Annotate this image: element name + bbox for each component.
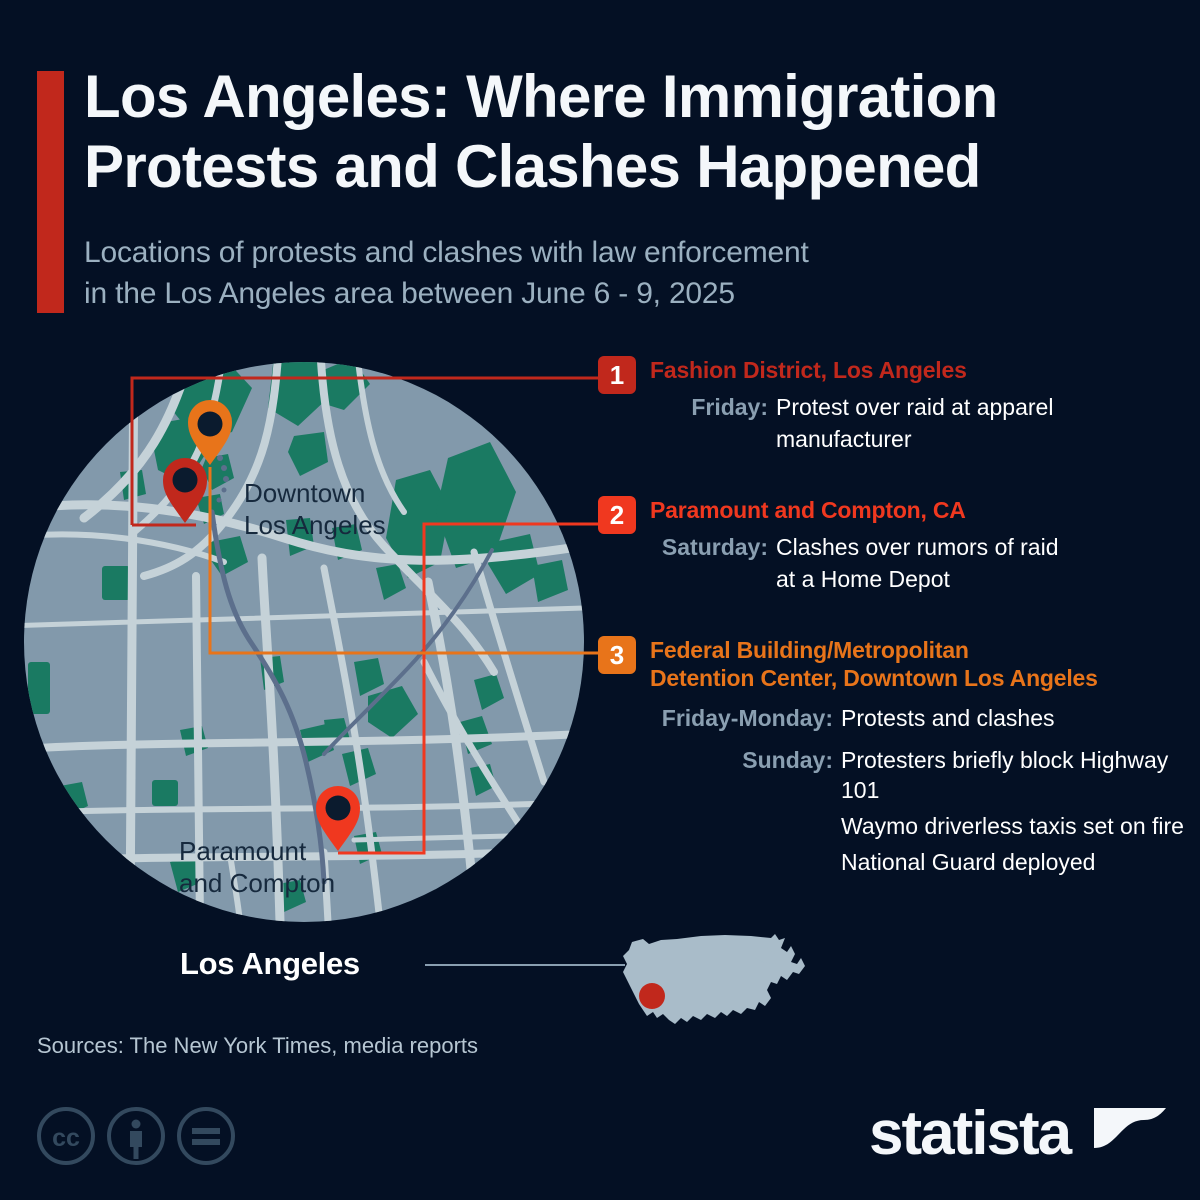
legend-badge-2: 2 xyxy=(598,496,636,534)
svg-text:cc: cc xyxy=(52,1124,80,1152)
title-line-1: Los Angeles: Where Immigration xyxy=(84,63,998,130)
legend-detail-row-2-0: Saturday: Clashes over rumors of raid xyxy=(650,533,1188,563)
subtitle-line-1: Locations of protests and clashes with l… xyxy=(84,236,809,269)
statista-logo: statista xyxy=(869,1098,1169,1175)
locator-map-group: Los Angeles xyxy=(180,930,820,1040)
legend-title-3: Federal Building/Metropolitan Detention … xyxy=(650,636,1188,692)
locator-dot xyxy=(639,983,665,1009)
statista-mark xyxy=(1094,1108,1166,1160)
legend-entry-1[interactable]: 1 Fashion District, Los Angeles Friday: … xyxy=(598,356,1188,455)
us-map-icon xyxy=(605,926,820,1046)
map-label-downtown-line1: Downtown xyxy=(244,478,365,508)
legend-text-2-0: Clashes over rumors of raid xyxy=(776,533,1059,563)
title-accent-bar xyxy=(37,71,64,313)
map-label-paramount-line2: and Compton xyxy=(179,868,335,898)
legend-entry-2[interactable]: 2 Paramount and Compton, CA Saturday: Cl… xyxy=(598,496,1188,595)
legend-day-3-0: Friday-Monday: xyxy=(650,704,833,734)
legend-day-3-1: Sunday: xyxy=(650,746,833,806)
legend-title-3-line2: Detention Center, Downtown Los Angeles xyxy=(650,665,1098,691)
legend-title-2: Paramount and Compton, CA xyxy=(650,496,1188,524)
page-title: Los Angeles: Where Immigration Protests … xyxy=(84,62,1174,202)
legend-title-3-line1: Federal Building/Metropolitan xyxy=(650,637,969,663)
la-area-map: Downtown Los Angeles Paramount and Compt… xyxy=(24,362,584,922)
creative-commons-icon: cc xyxy=(39,1109,93,1163)
legend-badge-3: 3 xyxy=(598,636,636,674)
legend-cont-3-1-0: Waymo driverless taxis set on fire xyxy=(841,812,1188,842)
sources-text: Sources: The New York Times, media repor… xyxy=(37,1033,478,1059)
legend-detail-row-3-0: Friday-Monday: Protests and clashes xyxy=(650,704,1188,734)
locator-leader-line xyxy=(425,964,625,966)
no-derivatives-icon xyxy=(179,1109,233,1163)
map-label-paramount-line1: Paramount xyxy=(179,836,307,866)
legend-text-3-0: Protests and clashes xyxy=(841,704,1055,734)
legend-badge-1: 1 xyxy=(598,356,636,394)
attribution-icon xyxy=(109,1109,163,1163)
page-subtitle: Locations of protests and clashes with l… xyxy=(84,233,1144,314)
legend-day-2-0: Saturday: xyxy=(650,533,768,563)
legend-text-3-1: Protesters briefly block Highway 101 xyxy=(841,746,1188,806)
legend-cont-2-0-0: at a Home Depot xyxy=(776,565,1188,595)
legend-entry-3[interactable]: 3 Federal Building/Metropolitan Detentio… xyxy=(598,636,1188,878)
license-icon-group: cc xyxy=(36,1106,266,1171)
legend-detail-row-1-0: Friday: Protest over raid at apparel xyxy=(650,393,1188,423)
statista-wordmark: statista xyxy=(869,1099,1073,1168)
legend-day-1-0: Friday: xyxy=(650,393,768,423)
legend-cont-1-0-0: manufacturer xyxy=(776,425,1188,455)
map-label-downtown-line2: Los Angeles xyxy=(244,510,386,540)
legend-title-1: Fashion District, Los Angeles xyxy=(650,356,1188,384)
legend-cont-3-1-1: National Guard deployed xyxy=(841,848,1188,878)
subtitle-line-2: in the Los Angeles area between June 6 -… xyxy=(84,277,735,310)
legend-detail-row-3-1: Sunday: Protesters briefly block Highway… xyxy=(650,746,1188,806)
title-line-2: Protests and Clashes Happened xyxy=(84,133,981,200)
legend-text-1-0: Protest over raid at apparel xyxy=(776,393,1053,423)
locator-label: Los Angeles xyxy=(180,946,360,982)
